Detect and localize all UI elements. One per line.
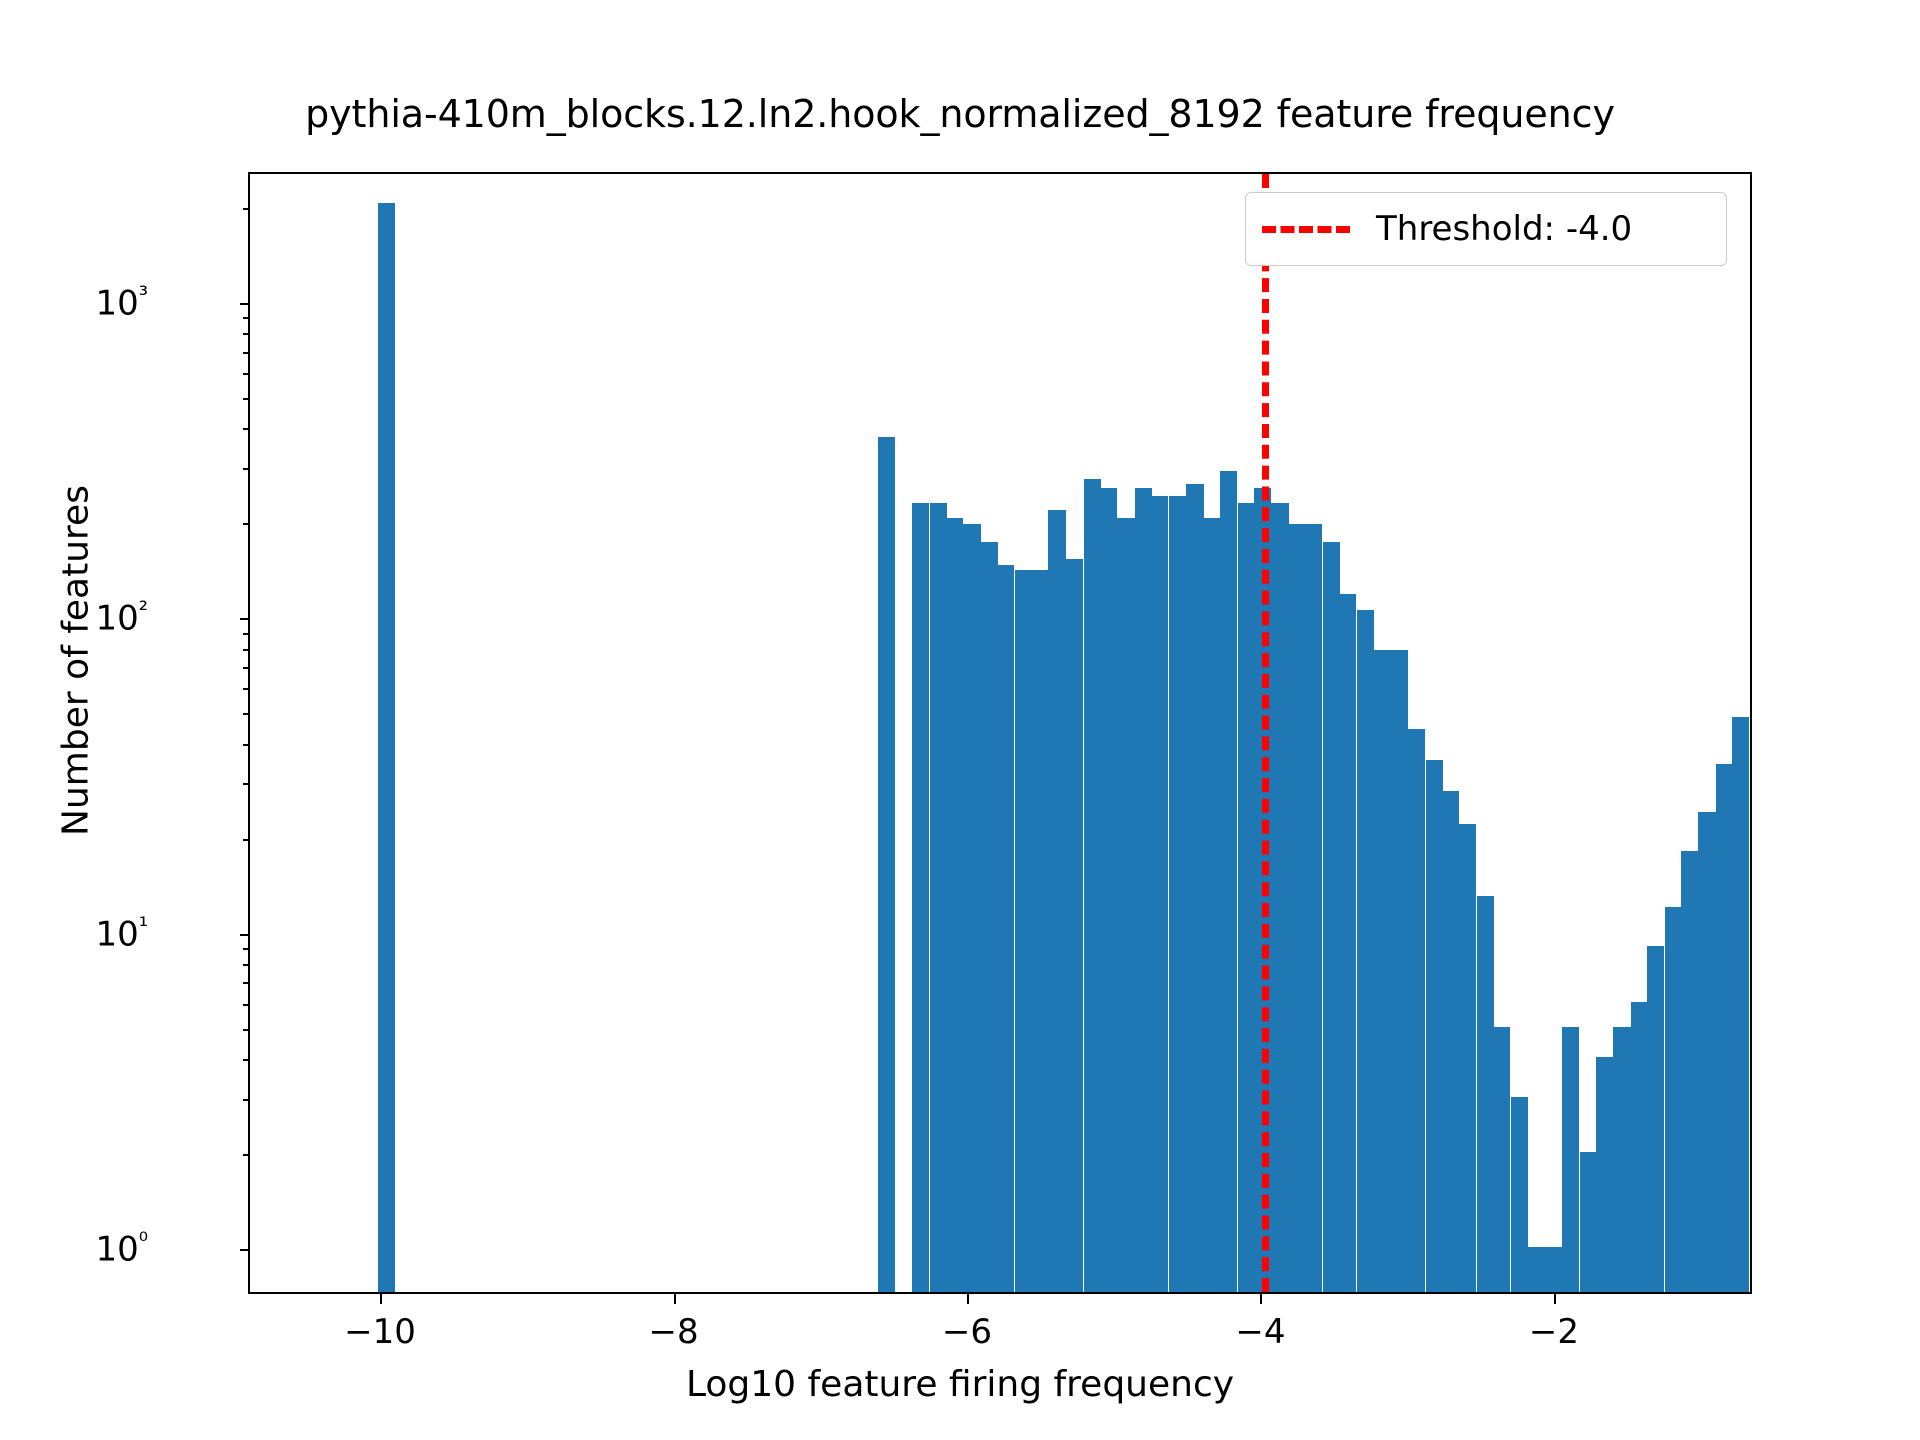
histogram-bar bbox=[981, 542, 998, 1292]
histogram-bar bbox=[1117, 518, 1134, 1292]
histogram-bar bbox=[997, 565, 1014, 1292]
x-tick-mark bbox=[380, 1294, 382, 1304]
histogram-bar bbox=[1151, 496, 1168, 1292]
histogram-bar bbox=[1135, 488, 1152, 1292]
histogram-bar bbox=[1305, 524, 1322, 1292]
plot-area bbox=[248, 172, 1752, 1294]
histogram-bar bbox=[1048, 510, 1065, 1292]
y-tick-label: 10¹ bbox=[95, 913, 148, 954]
histogram-bar bbox=[1698, 812, 1715, 1292]
x-tick-label: −6 bbox=[942, 1312, 992, 1352]
histogram-bar bbox=[1271, 503, 1288, 1292]
y-tick-label: 10³ bbox=[95, 282, 148, 323]
histogram-bar bbox=[1459, 824, 1476, 1292]
x-tick-label: −2 bbox=[1529, 1312, 1579, 1352]
matplotlib-figure: pythia-410m_blocks.12.ln2.hook_normalize… bbox=[0, 0, 1920, 1440]
x-tick-mark bbox=[967, 1294, 969, 1304]
y-axis-label: Number of features bbox=[56, 161, 97, 1161]
histogram-bar bbox=[1477, 896, 1494, 1292]
histogram-bar bbox=[1408, 729, 1425, 1292]
histogram-bar bbox=[1732, 717, 1749, 1292]
histogram-bar bbox=[378, 203, 395, 1292]
x-tick-label: −4 bbox=[1235, 1312, 1285, 1352]
histogram-bar bbox=[1066, 559, 1083, 1292]
x-tick-mark bbox=[1554, 1294, 1556, 1304]
histogram-bar bbox=[1681, 851, 1698, 1292]
histogram-bar bbox=[1202, 518, 1219, 1292]
histogram-bar bbox=[1186, 484, 1203, 1292]
histogram-bar bbox=[1647, 946, 1664, 1292]
histogram-bar bbox=[1613, 1027, 1630, 1292]
y-tick-label: 10⁰ bbox=[95, 1228, 148, 1269]
histogram-bar bbox=[1374, 650, 1391, 1292]
histogram-bar bbox=[1665, 907, 1682, 1292]
x-tick-label: −10 bbox=[344, 1312, 416, 1352]
histogram-bar bbox=[1084, 479, 1101, 1292]
histogram-bar bbox=[1100, 488, 1117, 1292]
histogram-bar bbox=[1339, 594, 1356, 1292]
histogram-bar bbox=[1528, 1247, 1545, 1292]
histogram-bar bbox=[946, 518, 963, 1292]
histogram-bar bbox=[1357, 610, 1374, 1292]
y-tick-label: 10² bbox=[95, 598, 148, 639]
histogram-bar bbox=[1169, 496, 1186, 1292]
histogram-bar bbox=[1288, 524, 1305, 1292]
histogram-bar bbox=[912, 503, 929, 1292]
histogram-bar bbox=[1750, 682, 1752, 1292]
legend-box[interactable]: Threshold: -4.0 bbox=[1245, 192, 1727, 266]
histogram-bar bbox=[1511, 1097, 1528, 1292]
histogram-bar bbox=[1580, 1152, 1597, 1292]
histogram-bar bbox=[930, 503, 947, 1292]
histogram-bar bbox=[1032, 570, 1049, 1292]
histogram-bar bbox=[1426, 760, 1443, 1292]
threshold-vline bbox=[1262, 174, 1269, 1292]
x-axis-label: Log10 feature firing frequency bbox=[0, 1364, 1920, 1405]
x-tick-mark bbox=[674, 1294, 676, 1304]
histogram-bar bbox=[1562, 1027, 1579, 1292]
histogram-bar bbox=[1544, 1247, 1561, 1292]
histogram-bar bbox=[1220, 471, 1237, 1292]
histogram-bar bbox=[963, 524, 980, 1292]
histogram-bars bbox=[250, 174, 1750, 1292]
histogram-bar bbox=[1631, 1002, 1648, 1292]
histogram-bar bbox=[1716, 764, 1733, 1292]
histogram-bar bbox=[1238, 503, 1255, 1292]
legend-entry-label: Threshold: -4.0 bbox=[1376, 209, 1632, 249]
histogram-bar bbox=[878, 437, 895, 1292]
threshold-line-icon bbox=[1262, 226, 1350, 233]
x-tick-mark bbox=[1260, 1294, 1262, 1304]
histogram-bar bbox=[1442, 791, 1459, 1292]
histogram-bar bbox=[1015, 570, 1032, 1292]
histogram-bar bbox=[1390, 650, 1407, 1292]
chart-title: pythia-410m_blocks.12.ln2.hook_normalize… bbox=[0, 92, 1920, 136]
histogram-bar bbox=[1596, 1057, 1613, 1292]
histogram-bar bbox=[1493, 1027, 1510, 1292]
x-tick-label: −8 bbox=[648, 1312, 698, 1352]
histogram-bar bbox=[1323, 542, 1340, 1292]
